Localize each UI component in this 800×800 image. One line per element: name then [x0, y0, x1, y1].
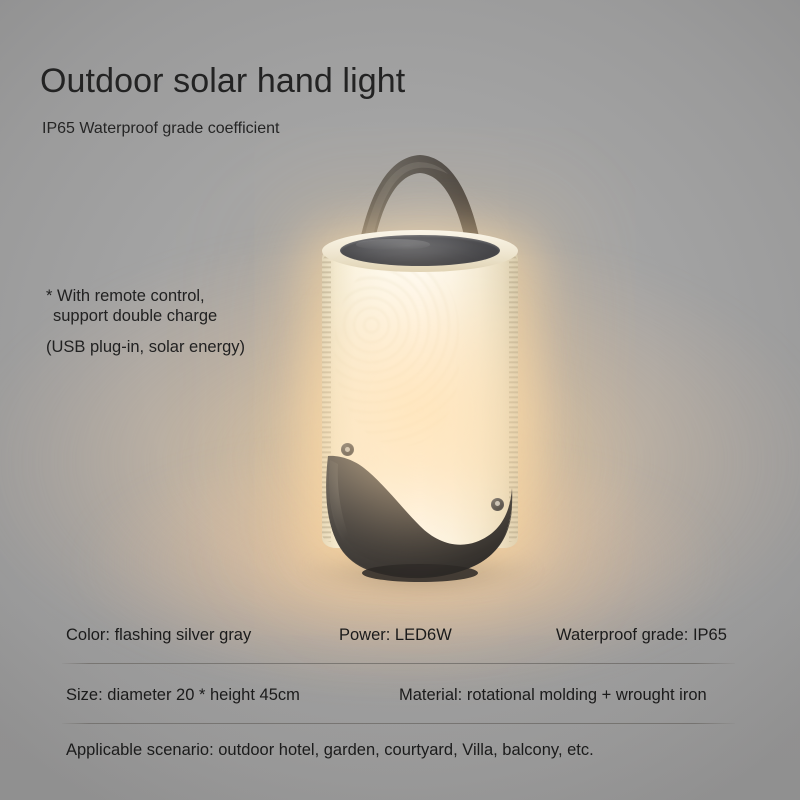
solar-panel-highlight — [356, 239, 430, 250]
divider-2 — [62, 723, 735, 724]
pivot-left — [341, 443, 354, 456]
pivot-screw-left — [345, 447, 350, 452]
feature-line-1: * With remote control, — [46, 287, 205, 305]
divider-1 — [62, 663, 735, 664]
spec-row-3: Applicable scenario: outdoor hotel, gard… — [0, 741, 800, 771]
solar-panel-top — [340, 235, 500, 266]
spec-row-1: Color: flashing silver gray Power: LED6W… — [0, 626, 800, 656]
spec-row-2: Size: diameter 20 * height 45cm Material… — [0, 686, 800, 716]
solar-lantern-product — [300, 130, 540, 590]
page-title: Outdoor solar hand light — [40, 62, 405, 101]
spec-color: Color: flashing silver gray — [66, 626, 251, 645]
spec-waterproof: Waterproof grade: IP65 — [556, 626, 727, 645]
spec-power: Power: LED6W — [339, 626, 452, 645]
feature-line-3: (USB plug-in, solar energy) — [46, 337, 245, 357]
feature-line-2: support double charge — [46, 307, 217, 325]
feature-callout: * With remote control, support double ch… — [46, 286, 245, 357]
pivot-right — [491, 498, 504, 511]
page-subtitle: IP65 Waterproof grade coefficient — [42, 120, 279, 138]
spec-size: Size: diameter 20 * height 45cm — [66, 686, 300, 705]
spec-scenario: Applicable scenario: outdoor hotel, gard… — [66, 741, 594, 760]
product-image-canvas: Outdoor solar hand light IP65 Waterproof… — [0, 0, 800, 800]
pivot-screw-right — [495, 501, 500, 506]
spec-material: Material: rotational molding + wrought i… — [399, 686, 707, 705]
